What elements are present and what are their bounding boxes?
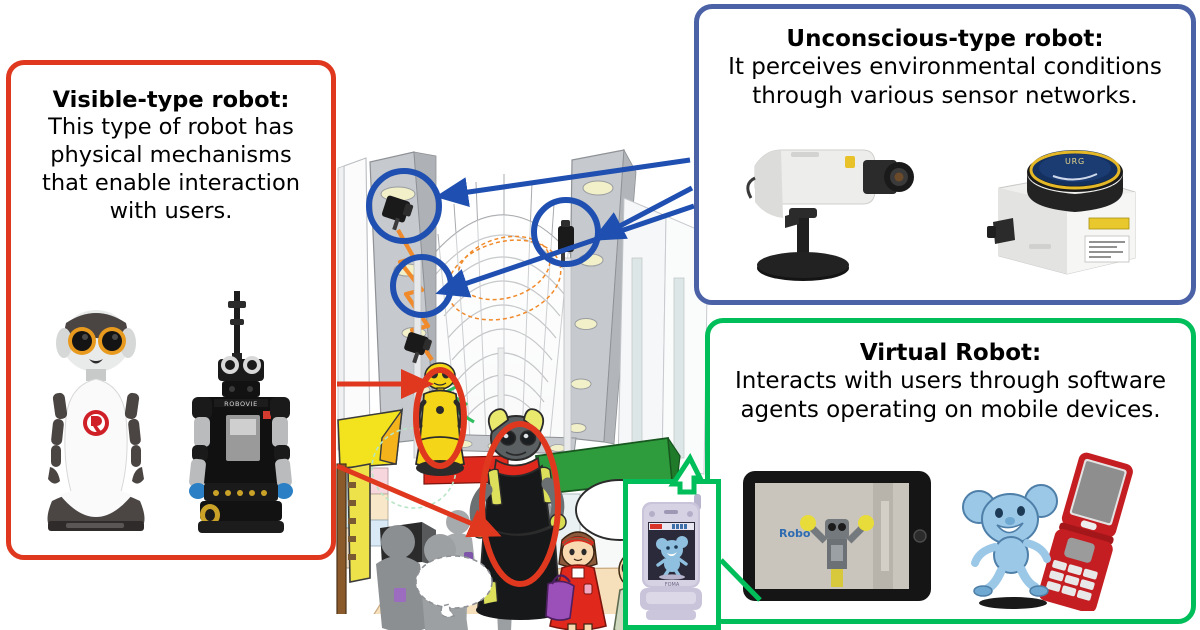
sensor-photos: URG [699,121,1191,291]
robovie-black-photo: ROBOVIE [166,289,316,539]
tablet-photo: Robo [737,461,937,611]
virtual-robot-body: Interacts with users through software ag… [724,367,1177,424]
virtual-robot-title: Virtual Robot: [724,339,1177,367]
visible-type-robot-body: This type of robot has physical mechanis… [25,114,317,226]
figure-canvas: Visible-type robot: This type of robot h… [0,0,1200,630]
phone-with-agent-photo: FOMA [628,484,716,625]
visible-robot-photos: ROBOVIE [11,279,331,539]
unconscious-type-robot-title: Unconscious-type robot: [717,25,1173,53]
visible-type-robot-title: Visible-type robot: [25,87,317,114]
robovie-r-photo [26,289,166,539]
laser-range-finder-photo: URG [983,126,1158,291]
visible-type-robot-callout: Visible-type robot: This type of robot h… [6,60,336,560]
virtual-robot-photos: Robo [710,441,1191,611]
mascot-and-phone [955,451,1165,611]
unconscious-type-robot-body: It perceives environmental conditions th… [717,53,1173,110]
security-camera-photo [733,126,953,291]
unconscious-type-robot-callout: Unconscious-type robot: It perceives env… [694,4,1196,305]
svg-text:FOMA: FOMA [665,582,680,588]
phone-agent-inset: FOMA [623,479,721,630]
virtual-robot-callout: Virtual Robot: Interacts with users thro… [705,318,1196,624]
svg-text:ROBOVIE: ROBOVIE [224,400,258,408]
svg-text:URG: URG [1064,157,1084,166]
